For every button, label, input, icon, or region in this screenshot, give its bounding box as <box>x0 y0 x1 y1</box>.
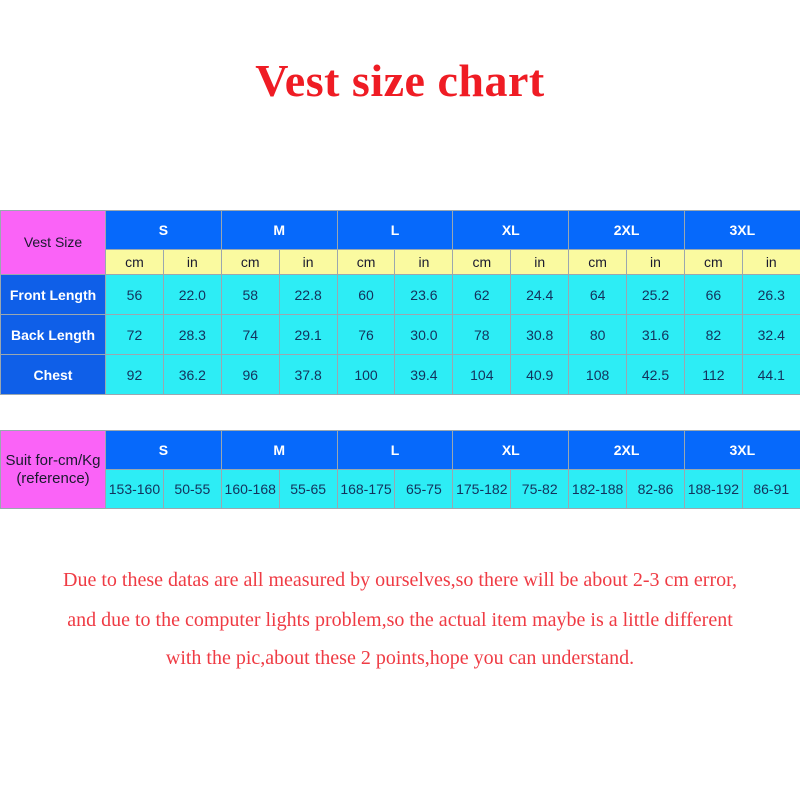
fit-cell-value: 55-65 <box>279 470 337 509</box>
size-header-row: Vest Size S M L XL 2XL 3XL <box>1 211 800 250</box>
page-title: Vest size chart <box>0 56 800 107</box>
cell-value: 112 <box>684 355 742 395</box>
unit-cell-in: in <box>742 250 800 275</box>
fit-cell-value: 75-82 <box>511 470 569 509</box>
fit-cell-value: 153-160 <box>106 470 164 509</box>
cell-value: 26.3 <box>742 275 800 315</box>
suit-for-label: Suit for-cm/Kg (reference) <box>1 431 106 509</box>
cell-value: 62 <box>453 275 511 315</box>
cell-value: 58 <box>221 275 279 315</box>
cell-value: 24.4 <box>511 275 569 315</box>
size-header-xl: XL <box>453 211 569 250</box>
size-chart-table-container: Vest Size S M L XL 2XL 3XL cm in cm in c… <box>0 210 800 395</box>
fit-cell-value: 86-91 <box>742 470 800 509</box>
fit-cell-value: 188-192 <box>684 470 742 509</box>
unit-cell-cm: cm <box>106 250 164 275</box>
unit-cell-in: in <box>163 250 221 275</box>
cell-value: 22.8 <box>279 275 337 315</box>
cell-value: 23.6 <box>395 275 453 315</box>
cell-value: 30.0 <box>395 315 453 355</box>
unit-cell-cm: cm <box>684 250 742 275</box>
cell-value: 78 <box>453 315 511 355</box>
cell-value: 96 <box>221 355 279 395</box>
unit-header-row: cm in cm in cm in cm in cm in cm in <box>1 250 800 275</box>
row-label-front-length: Front Length <box>1 275 106 315</box>
unit-cell-in: in <box>279 250 337 275</box>
suit-for-label-line2: (reference) <box>1 470 105 487</box>
unit-cell-in: in <box>511 250 569 275</box>
fit-cell-value: 175-182 <box>453 470 511 509</box>
cell-value: 64 <box>569 275 627 315</box>
size-header-2xl: 2XL <box>569 211 685 250</box>
table-row: Back Length 72 28.3 74 29.1 76 30.0 78 3… <box>1 315 800 355</box>
cell-value: 56 <box>106 275 164 315</box>
fit-size-header-row: Suit for-cm/Kg (reference) S M L XL 2XL … <box>1 431 800 470</box>
cell-value: 80 <box>569 315 627 355</box>
vest-size-label: Vest Size <box>1 211 106 275</box>
disclaimer-line-1: Due to these datas are all measured by o… <box>0 570 800 590</box>
cell-value: 28.3 <box>163 315 221 355</box>
cell-value: 32.4 <box>742 315 800 355</box>
cell-value: 44.1 <box>742 355 800 395</box>
cell-value: 100 <box>337 355 395 395</box>
unit-cell-cm: cm <box>221 250 279 275</box>
size-header-3xl: 3XL <box>684 211 800 250</box>
fit-cell-value: 168-175 <box>337 470 395 509</box>
fit-size-header-2xl: 2XL <box>569 431 685 470</box>
cell-value: 42.5 <box>627 355 685 395</box>
size-header-m: M <box>221 211 337 250</box>
cell-value: 39.4 <box>395 355 453 395</box>
suit-for-label-line1: Suit for-cm/Kg <box>1 452 105 469</box>
fit-cell-value: 160-168 <box>221 470 279 509</box>
cell-value: 66 <box>684 275 742 315</box>
unit-cell-in: in <box>395 250 453 275</box>
fit-cell-value: 182-188 <box>569 470 627 509</box>
cell-value: 29.1 <box>279 315 337 355</box>
table-row: Front Length 56 22.0 58 22.8 60 23.6 62 … <box>1 275 800 315</box>
table-row: 153-160 50-55 160-168 55-65 168-175 65-7… <box>1 470 800 509</box>
size-header-l: L <box>337 211 453 250</box>
cell-value: 92 <box>106 355 164 395</box>
fit-cell-value: 82-86 <box>627 470 685 509</box>
cell-value: 104 <box>453 355 511 395</box>
cell-value: 82 <box>684 315 742 355</box>
fit-size-header-s: S <box>106 431 222 470</box>
cell-value: 22.0 <box>163 275 221 315</box>
cell-value: 74 <box>221 315 279 355</box>
cell-value: 76 <box>337 315 395 355</box>
cell-value: 108 <box>569 355 627 395</box>
cell-value: 37.8 <box>279 355 337 395</box>
fit-size-header-m: M <box>221 431 337 470</box>
fit-cell-value: 50-55 <box>163 470 221 509</box>
cell-value: 60 <box>337 275 395 315</box>
size-header-s: S <box>106 211 222 250</box>
table-row: Chest 92 36.2 96 37.8 100 39.4 104 40.9 … <box>1 355 800 395</box>
cell-value: 40.9 <box>511 355 569 395</box>
unit-cell-cm: cm <box>569 250 627 275</box>
unit-cell-cm: cm <box>453 250 511 275</box>
disclaimer-line-2: and due to the computer lights problem,s… <box>0 610 800 630</box>
fit-size-header-l: L <box>337 431 453 470</box>
cell-value: 25.2 <box>627 275 685 315</box>
fit-cell-value: 65-75 <box>395 470 453 509</box>
unit-cell-in: in <box>627 250 685 275</box>
cell-value: 72 <box>106 315 164 355</box>
cell-value: 30.8 <box>511 315 569 355</box>
row-label-chest: Chest <box>1 355 106 395</box>
unit-cell-cm: cm <box>337 250 395 275</box>
fit-reference-table-container: Suit for-cm/Kg (reference) S M L XL 2XL … <box>0 430 800 509</box>
row-label-back-length: Back Length <box>1 315 106 355</box>
fit-size-header-3xl: 3XL <box>684 431 800 470</box>
size-chart-table: Vest Size S M L XL 2XL 3XL cm in cm in c… <box>0 210 800 395</box>
cell-value: 36.2 <box>163 355 221 395</box>
disclaimer-line-3: with the pic,about these 2 points,hope y… <box>0 648 800 668</box>
fit-reference-table: Suit for-cm/Kg (reference) S M L XL 2XL … <box>0 430 800 509</box>
fit-size-header-xl: XL <box>453 431 569 470</box>
cell-value: 31.6 <box>627 315 685 355</box>
